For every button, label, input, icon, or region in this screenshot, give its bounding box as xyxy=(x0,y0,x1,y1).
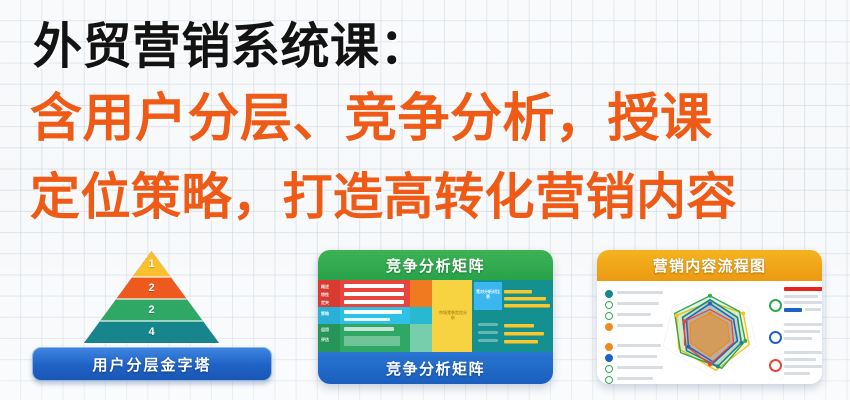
cards-row: 1 2 2 4 用户分层金字塔 竞争分析矩阵 xyxy=(0,246,850,386)
card-marketing-flow[interactable]: 营销内容流程图 xyxy=(597,250,822,384)
legend-dot-blue-icon xyxy=(605,354,613,362)
radar-header: 营销内容流程图 xyxy=(597,250,822,281)
headline-line-3: 定位策略，打造高转化营销内容 xyxy=(30,172,737,222)
legend-line xyxy=(784,372,810,375)
pyramid-level-1-label: 1 xyxy=(148,258,154,270)
legend-line xyxy=(617,291,663,294)
ring-blue-icon xyxy=(769,331,782,344)
radar-chart xyxy=(661,283,759,383)
poster-stage: 外贸营销系统课： 含用户分层、竞争分析，授课 定位策略，打造高转化营销内容 xyxy=(0,0,850,400)
accent-bar-blue xyxy=(784,308,802,312)
headline-line-1: 外贸营销系统课： xyxy=(33,23,429,72)
legend-line xyxy=(617,344,661,347)
legend-line xyxy=(784,295,818,298)
legend-dot-green-icon xyxy=(605,301,613,309)
ring-red-icon xyxy=(769,359,782,372)
legend-line xyxy=(617,302,659,305)
legend-line xyxy=(805,308,821,311)
matrix-header: 竞争分析矩阵 xyxy=(318,250,553,280)
pyramid-level-3-label: 2 xyxy=(148,304,154,316)
accent-bar-red xyxy=(784,287,822,291)
legend-line xyxy=(617,377,653,380)
legend-line xyxy=(784,351,822,354)
legend-line xyxy=(784,365,822,368)
pyramid-level-1: 1 xyxy=(84,251,219,277)
legend-dot-teal-icon xyxy=(605,290,613,298)
pyramid-level-4-label: 4 xyxy=(148,326,154,338)
matrix-svg xyxy=(318,280,553,352)
legend-dot-green-icon xyxy=(605,312,613,320)
matrix-body: 概述 特性 定夹 策略 运用 评估 市场竞争定位分析 竞对分析对比表 xyxy=(318,280,553,352)
legend-dot-orange-icon xyxy=(605,343,613,351)
matrix-row-label-3: 定夹 xyxy=(321,300,329,305)
legend-dot-orange-icon xyxy=(605,323,613,331)
headline-line-2: 含用户分层、竞争分析，授课 xyxy=(30,93,713,145)
matrix-row-label-6: 评估 xyxy=(321,337,329,342)
card-competitor-matrix[interactable]: 竞争分析矩阵 xyxy=(318,250,553,384)
radar-body xyxy=(597,281,822,384)
legend-line xyxy=(784,323,822,326)
legend-line xyxy=(617,313,651,316)
matrix-row-label-1: 概述 xyxy=(321,284,329,289)
pyramid-level-3: 2 xyxy=(84,299,219,321)
legend-line xyxy=(617,366,663,369)
legend-line xyxy=(617,324,663,327)
pyramid-level-2: 2 xyxy=(84,277,219,299)
matrix-footer-label: 竞争分析矩阵 xyxy=(318,352,553,384)
matrix-row-label-5: 运用 xyxy=(321,327,329,332)
legend-line xyxy=(617,355,657,358)
legend-dot-green-icon xyxy=(605,376,613,384)
legend-dot-green-icon xyxy=(605,365,613,373)
ring-green-icon xyxy=(769,299,782,312)
matrix-side-label: 竞对分析对比表 xyxy=(476,289,500,299)
matrix-row-label-4: 策略 xyxy=(321,311,329,316)
pyramid-level-4: 4 xyxy=(84,321,219,343)
pyramid-level-2-label: 2 xyxy=(148,282,154,294)
matrix-row-label-2: 特性 xyxy=(321,292,329,297)
pyramid-graphic: 1 2 2 4 xyxy=(84,251,219,343)
matrix-center-label: 市场竞争定位分析 xyxy=(438,310,468,320)
legend-line xyxy=(784,301,822,304)
card-user-pyramid[interactable]: 1 2 2 4 用户分层金字塔 xyxy=(32,251,270,383)
legend-line xyxy=(784,337,812,340)
legend-line xyxy=(784,358,816,361)
pyramid-caption-button[interactable]: 用户分层金字塔 xyxy=(32,347,272,381)
legend-line xyxy=(784,330,820,333)
